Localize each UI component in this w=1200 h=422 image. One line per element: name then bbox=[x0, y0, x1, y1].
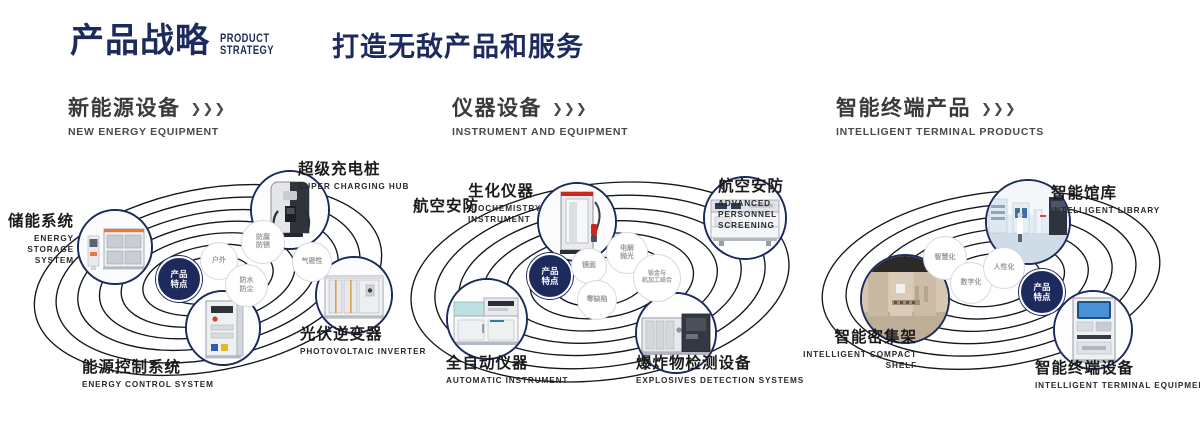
node-biochemistry-instrument[interactable] bbox=[537, 182, 617, 262]
label-cn: 储能系统 bbox=[0, 213, 74, 231]
label-cn: 智能终端设备 bbox=[1035, 360, 1200, 378]
page-title: 产品战略 bbox=[70, 24, 210, 58]
feature-bubble-zero-defect: 零缺陷 bbox=[577, 280, 617, 320]
poster-header: 产品战略 PRODUCT STRATEGY bbox=[70, 24, 289, 58]
label-en: AUTOMATIC INSTRUMENT bbox=[446, 375, 568, 386]
feature-bubble-humanized: 人性化 bbox=[983, 247, 1025, 289]
page-title-english-line2: STRATEGY bbox=[220, 44, 274, 56]
cluster-intelligent-terminal: 产品 特点 智慧化 数字化 人性化 智能馆库 INTELLIGENT LIBRA… bbox=[795, 152, 1195, 402]
label-cn: 爆炸物检测设备 bbox=[636, 355, 804, 373]
label-energy-storage: 储能系统 ENERGY STORAGE SYSTEM bbox=[0, 213, 74, 266]
label-intelligent-compact-shelf: 智能密集架 INTELLIGENT COMPACT SHELF bbox=[785, 329, 917, 371]
label-en: ENERGY STORAGE SYSTEM bbox=[0, 233, 74, 266]
section-title-cn-text: 智能终端产品 bbox=[836, 98, 971, 119]
security-scanner-icon bbox=[539, 184, 615, 260]
feature-bubble-anticorrosion: 防腐 防锈 bbox=[241, 220, 285, 264]
feature-bubble-label: 户外 bbox=[212, 257, 226, 266]
label-en: SUPER CHARGING HUB bbox=[298, 181, 409, 192]
core-bubble-label: 产品 特点 bbox=[541, 266, 558, 286]
node-automatic-instrument[interactable] bbox=[446, 278, 528, 360]
feature-bubble-label: 电解 抛光 bbox=[620, 245, 634, 262]
label-cn: 超级充电桩 bbox=[298, 161, 409, 179]
page-subtitle: 打造无敌产品和服务 bbox=[332, 34, 584, 61]
core-bubble-label: 产品 特点 bbox=[170, 269, 187, 289]
label-energy-control: 能源控制系统 ENERGY CONTROL SYSTEM bbox=[82, 359, 214, 390]
label-cn: 智能馆库 bbox=[1051, 185, 1160, 203]
label-cn: 航空安防 bbox=[413, 198, 479, 216]
feature-bubble-label: 智慧化 bbox=[935, 254, 956, 263]
section-title-en: INTELLIGENT TERMINAL PRODUCTS bbox=[836, 126, 1044, 138]
label-intelligent-terminal-equipment: 智能终端设备 INTELLIGENT TERMINAL EQUIPMENT bbox=[1035, 360, 1200, 391]
self-service-kiosk-icon bbox=[1055, 292, 1131, 368]
feature-bubble-label: 数字化 bbox=[961, 279, 982, 288]
label-en: EXPLOSIVES DETECTION SYSTEMS bbox=[636, 375, 804, 386]
node-intelligent-terminal-equipment[interactable] bbox=[1053, 290, 1133, 370]
label-en: INTELLIGENT TERMINAL EQUIPMENT bbox=[1035, 380, 1200, 391]
section-title-cn: 仪器设备 ❯❯❯ bbox=[452, 98, 628, 119]
section-title-instrument: 仪器设备 ❯❯❯ INSTRUMENT AND EQUIPMENT bbox=[452, 98, 628, 138]
label-intelligent-library: 智能馆库 INTELLIGENT LIBRARY bbox=[1051, 185, 1160, 216]
cluster-new-energy: 产品 特点 户外 防腐 防锈 气密性 防水 防尘 储能系统 ENERGY STO… bbox=[10, 152, 410, 402]
section-title-en: NEW ENERGY EQUIPMENT bbox=[68, 126, 226, 138]
label-cn: 智能密集架 bbox=[785, 329, 917, 347]
page-title-english: PRODUCT STRATEGY bbox=[220, 32, 274, 56]
section-title-en: INSTRUMENT AND EQUIPMENT bbox=[452, 126, 628, 138]
feature-bubble-label: 零缺陷 bbox=[587, 296, 608, 305]
feature-bubble-label: 防水 防尘 bbox=[240, 277, 254, 294]
node-energy-storage[interactable] bbox=[77, 209, 153, 285]
feature-bubble-label: 镜面 bbox=[582, 262, 596, 271]
automatic-analyzer-icon bbox=[448, 280, 526, 358]
feature-bubble-label: 气密性 bbox=[302, 258, 323, 267]
feature-bubble-label: 人性化 bbox=[994, 264, 1015, 273]
feature-bubble-label: 钣金与 机加工结合 bbox=[642, 271, 672, 286]
label-en: INTELLIGENT LIBRARY bbox=[1051, 205, 1160, 216]
label-aviation-security: 航空安防 bbox=[413, 198, 479, 216]
chevron-right-icon: ❯❯❯ bbox=[552, 102, 588, 115]
poster-canvas: 产品战略 PRODUCT STRATEGY 打造无敌产品和服务 新能源设备 ❯❯… bbox=[0, 0, 1200, 422]
core-bubble-product-features: 产品 特点 bbox=[527, 253, 573, 299]
feature-bubble-mirror: 镜面 bbox=[571, 248, 607, 284]
energy-storage-cabinet-icon bbox=[79, 211, 151, 283]
label-charging-hub: 超级充电桩 SUPER CHARGING HUB bbox=[298, 161, 409, 192]
label-advanced-personnel-screening: 航空安防 ADVANCED PERSONNEL SCREENING bbox=[718, 178, 800, 231]
section-title-cn: 新能源设备 ❯❯❯ bbox=[68, 98, 226, 119]
section-title-cn-text: 新能源设备 bbox=[68, 98, 181, 119]
section-title-cn-text: 仪器设备 bbox=[452, 98, 542, 119]
section-title-new-energy: 新能源设备 ❯❯❯ NEW ENERGY EQUIPMENT bbox=[68, 98, 226, 138]
section-title-intelligent: 智能终端产品 ❯❯❯ INTELLIGENT TERMINAL PRODUCTS bbox=[836, 98, 1044, 138]
feature-bubble-airtight: 气密性 bbox=[292, 242, 332, 282]
core-bubble-product-features: 产品 特点 bbox=[1019, 269, 1065, 315]
section-title-cn: 智能终端产品 ❯❯❯ bbox=[836, 98, 1044, 119]
chevron-right-icon: ❯❯❯ bbox=[191, 102, 227, 115]
label-explosives-detection: 爆炸物检测设备 EXPLOSIVES DETECTION SYSTEMS bbox=[636, 355, 804, 386]
core-bubble-label: 产品 特点 bbox=[1033, 282, 1050, 302]
label-en: ADVANCED PERSONNEL SCREENING bbox=[718, 198, 800, 231]
label-cn: 航空安防 bbox=[718, 178, 800, 196]
core-bubble-product-features: 产品 特点 bbox=[156, 256, 202, 302]
feature-bubble-label: 防腐 防锈 bbox=[256, 234, 270, 251]
label-automatic-instrument: 全自动仪器 AUTOMATIC INSTRUMENT bbox=[446, 355, 568, 386]
chevron-right-icon: ❯❯❯ bbox=[981, 102, 1017, 115]
feature-bubble-waterproof: 防水 防尘 bbox=[225, 264, 268, 307]
cluster-instrument: 产品 特点 镜面 电解 抛光 钣金与 机加工结合 零缺陷 生化仪器 BIOCHE… bbox=[400, 152, 800, 402]
label-cn: 能源控制系统 bbox=[82, 359, 214, 377]
label-en: ENERGY CONTROL SYSTEM bbox=[82, 379, 214, 390]
feature-bubble-sheetmetal-machining: 钣金与 机加工结合 bbox=[633, 254, 681, 302]
label-cn: 全自动仪器 bbox=[446, 355, 568, 373]
label-en: INTELLIGENT COMPACT SHELF bbox=[785, 349, 917, 371]
